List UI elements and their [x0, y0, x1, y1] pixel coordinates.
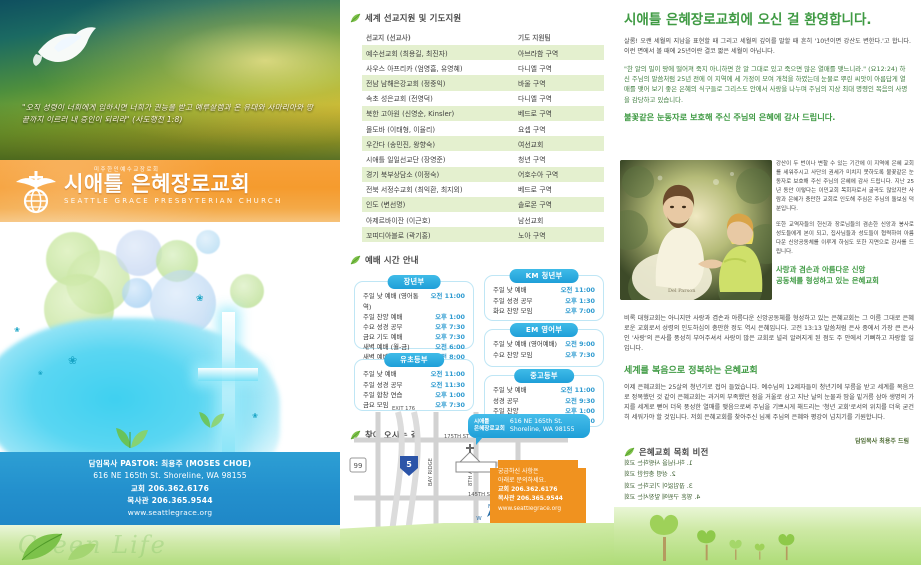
svg-text:EXIT 176: EXIT 176	[392, 406, 415, 412]
schedule-card: EM 영어부주일 낮 예배 (영어예배)오전 9:00수요 찬양 모임오후 7:…	[484, 329, 604, 367]
schedule-label: 금요 기도 예배	[363, 332, 402, 342]
vision-block: 은혜교회 목회 비전 1. 하나님을 사랑하는 교회2. 성령 충만한 교회3.…	[624, 446, 914, 504]
decor-bubble	[116, 230, 162, 276]
schedule-time: 오후 7:30	[435, 322, 465, 332]
website-link[interactable]: www.seattlegrace.org	[0, 507, 340, 519]
butterfly-icon: ❀	[68, 354, 77, 367]
col-prayer-team: 기도 지원팀	[514, 29, 604, 45]
prayer-team-cell: 다니엘 구역	[514, 60, 604, 75]
mission-field-cell: 경기 북부상담소 (이정숙)	[362, 167, 514, 182]
schedule-time: 오전 11:00	[431, 369, 465, 379]
vision-header: 은혜교회 목회 비전	[624, 446, 914, 458]
bible-verse: "오직 성령이 너희에게 임하시면 너희가 권능을 받고 예루살렘과 온 유대와…	[22, 102, 322, 126]
thanks-line: 불꽃같은 눈동자로 보호해 주신 주님의 은혜에 감사 드립니다.	[624, 111, 911, 123]
info-parsonage-phone: 목사관 206.365.9544	[498, 494, 580, 503]
side-paragraph-1: 강산이 두 번이나 변할 수 있는 기간에 이 지역에 은혜 교회를 세워주시고…	[776, 160, 914, 213]
svg-text:99: 99	[354, 462, 363, 470]
missions-title: 세계 선교지원 및 기도지원	[365, 12, 461, 24]
table-row: 북한 고아원 (신영순, Kinsler)베드로 구역	[362, 106, 604, 121]
svg-text:W: W	[476, 516, 482, 522]
logo-supertext: 미주한인예수교장로회	[94, 165, 283, 173]
brochure-page: "오직 성령이 너희에게 임하시면 너희가 권능을 받고 예루살렘과 온 유대와…	[0, 0, 921, 565]
info-line-1: 궁금하신 사항은	[498, 467, 580, 476]
body-paragraph-block: 비록 대형교회는 아니지만 사랑과 겸손과 아름다운 신앙공동체를 형성하고 있…	[624, 314, 914, 423]
schedule-row: 수요 성경 공부오후 7:30	[363, 322, 465, 332]
mission-field-cell: 속초 성은교회 (전영덕)	[362, 91, 514, 106]
decor-bubble	[230, 274, 264, 308]
schedule-row: 주일 낮 예배 (영어통역)오전 11:00	[363, 291, 465, 311]
schedule-row: 화요 찬양 모임오후 7:00	[493, 306, 595, 316]
parsonage-phone: 목사관 206.365.9544	[0, 495, 340, 507]
schedule-title: 예배 시간 안내	[365, 254, 419, 266]
schedule-time: 오전 6:00	[435, 342, 465, 352]
right-side-column: 강산이 두 번이나 변할 수 있는 기간에 이 지역에 은혜 교회를 세워주시고…	[776, 160, 914, 295]
butterfly-icon: ❀	[38, 370, 43, 377]
vision-items: 1. 하나님을 사랑하는 교회2. 성령 충만한 교회3. 끊임없이 기도하는 …	[624, 458, 914, 504]
church-emblem-icon	[12, 168, 60, 214]
table-row: 아제르바이잔 (이근호)남선교회	[362, 212, 604, 227]
table-row: 속초 성은교회 (전영덕)다니엘 구역	[362, 91, 604, 106]
svg-text:Del Parson: Del Parson	[668, 288, 696, 294]
mission-field-cell: 북한 고아원 (신영순, Kinsler)	[362, 106, 514, 121]
closing-paragraph: 이제 은혜교회는 25살의 청년기로 접어 들었습니다. 예수님의 12제자들이…	[624, 383, 914, 423]
table-row: 경기 북부상담소 (이정숙)어호수아 구역	[362, 167, 604, 182]
jesus-and-child-image: Del Parson	[620, 160, 772, 300]
prayer-team-cell: 베드로 구역	[514, 106, 604, 121]
prayer-team-cell: 다니엘 구역	[514, 91, 604, 106]
schedule-label: 주일 성경 공부	[493, 296, 532, 306]
schedule-time: 오전 11:00	[431, 291, 465, 311]
middle-panel: 세계 선교지원 및 기도지원 선교지 (선교사) 기도 지원팀 예수선교회 (최…	[340, 0, 614, 565]
jesus-illustration: Del Parson	[620, 160, 772, 300]
logo-text-group: 미주한인예수교장로회 시애틀 은혜장로교회 SEATTLE GRACE PRES…	[64, 165, 283, 205]
church-logo-band: 미주한인예수교장로회 시애틀 은혜장로교회 SEATTLE GRACE PRES…	[0, 160, 340, 222]
scripture-paragraph: "한 알의 밀이 땅에 떨어져 죽지 아니하면 한 알 그대로 있고 죽으면 많…	[624, 64, 911, 105]
table-row: 우간다 (송민진, 왕향숙)여선교회	[362, 136, 604, 151]
prayer-team-cell: 남선교회	[514, 212, 604, 227]
right-grass-footer	[614, 507, 921, 565]
schedule-card-title: EM 영어부	[510, 323, 578, 337]
butterfly-icon: ❀	[252, 412, 258, 420]
prayer-team-cell: 어호수아 구역	[514, 167, 604, 182]
schedule-label: 수요 찬양 모임	[493, 350, 532, 360]
left-panel: "오직 성령이 너희에게 임하시면 너희가 권능을 받고 예루살렘과 온 유대와…	[0, 0, 340, 565]
mission-field-cell: 전북 서정수교회 (최익환, 최지외)	[362, 182, 514, 197]
leaf-bullet-icon	[350, 255, 361, 266]
heart-tree-icon	[692, 527, 722, 561]
table-row: 시애틀 일일선교단 (장영준)청년 구역	[362, 151, 604, 166]
mission-field-cell: 예수선교회 (최용길, 최진자)	[362, 45, 514, 60]
heart-tree-icon	[752, 541, 768, 561]
decor-bubble	[196, 230, 220, 254]
schedule-row: 주일 낮 예배 (영어예배)오전 9:00	[493, 339, 595, 349]
col-mission-field: 선교지 (선교사)	[362, 29, 514, 45]
side-highlight: 사랑과 겸손과 아름다운 신앙 공동체를 형성하고 있는 은혜교회	[776, 265, 914, 286]
decorative-artwork: ❀ ❀ ❀ ❀ ❀	[0, 222, 340, 490]
schedule-row: 주일 성경 공부오후 1:30	[493, 296, 595, 306]
schedule-card-title: 유초등부	[384, 353, 444, 367]
callout-church-name: 시애틀 은혜장로교회	[474, 419, 505, 434]
church-phone: 교회 206.362.6176	[0, 483, 340, 495]
prayer-team-cell: 노아 구역	[514, 227, 604, 242]
logo-korean-name: 시애틀 은혜장로교회	[64, 173, 283, 195]
schedule-label: 주일 낮 예배 (영어통역)	[363, 291, 425, 311]
schedule-card-title: 장년부	[388, 275, 441, 289]
prayer-team-cell: 여선교회	[514, 136, 604, 151]
schedule-time: 오후 7:30	[565, 350, 595, 360]
schedule-time: 오전 9:00	[565, 339, 595, 349]
mission-field-cell: 인도 (변선명)	[362, 197, 514, 212]
info-website[interactable]: www.seattlegrace.org	[498, 506, 580, 512]
pastor-line: 담임목사 PASTOR: 최용주 (MOSES CHOE)	[0, 458, 340, 470]
contact-block: 담임목사 PASTOR: 최용주 (MOSES CHOE) 616 NE 165…	[0, 452, 340, 530]
side-paragraph-2: 또한 교역자들의 헌신과 장로님들의 겸손한 신앙과 봉사로 성도들에게 본이 …	[776, 221, 914, 257]
mission-field-cell: 꼬띠디아블로 (곽기홍)	[362, 227, 514, 242]
schedule-card: 장년부주일 낮 예배 (영어통역)오전 11:00주일 찬양 예배오후 1:00…	[354, 281, 474, 349]
schedule-section-header: 예배 시간 안내	[350, 254, 614, 266]
body-paragraph: 비록 대형교회는 아니지만 사랑과 겸손과 아름다운 신앙공동체를 형성하고 있…	[624, 314, 914, 354]
leaf-sprig-icon	[196, 404, 226, 428]
schedule-time: 오후 1:00	[435, 312, 465, 322]
mission-field-cell: 우간다 (송민진, 왕향숙)	[362, 136, 514, 151]
schedule-row: 새벽 예배 (월-금)오전 6:00	[363, 342, 465, 352]
table-row: 꼬띠디아블로 (곽기홍)노아 구역	[362, 227, 604, 242]
schedule-time: 오전 11:00	[561, 285, 595, 295]
dove-icon	[30, 22, 102, 70]
schedule-label: 새벽 예배 (월-금)	[363, 342, 410, 352]
intro-paragraph: 살롬! 오랜 세월의 지남을 표현할 때 그리고 세월의 깊이를 말할 때 흔히…	[624, 37, 911, 57]
missions-table: 선교지 (선교사) 기도 지원팀 예수선교회 (최용길, 최진자)아브라함 구역…	[362, 29, 604, 242]
prayer-team-cell: 아브라함 구역	[514, 45, 604, 60]
svg-text:5: 5	[406, 460, 412, 469]
butterfly-icon: ❀	[196, 294, 204, 304]
table-row: 몰도바 (이태형, 이율리)요셉 구역	[362, 121, 604, 136]
mission-field-cell: 몰도바 (이태형, 이율리)	[362, 121, 514, 136]
schedule-card: KM 청년부주일 낮 예배오전 11:00주일 성경 공부오후 1:30화요 찬…	[484, 275, 604, 321]
heart-tree-icon	[774, 531, 800, 561]
location-map[interactable]: 99 5 EXIT 176 175TH ST 148TH ST 145TH ST…	[340, 388, 614, 565]
table-header-row: 선교지 (선교사) 기도 지원팀	[362, 29, 604, 45]
address-line: 616 NE 165th St. Shoreline, WA 98155	[0, 470, 340, 482]
schedule-label: 주일 낮 예배 (영어예배)	[493, 339, 557, 349]
schedule-time: 오후 7:00	[565, 306, 595, 316]
mission-field-cell: 시애틀 일일선교단 (장영준)	[362, 151, 514, 166]
prayer-team-cell: 요셉 구역	[514, 121, 604, 136]
schedule-card-title: 중고등부	[514, 369, 574, 383]
table-row: 전북 서정수교회 (최익환, 최지외)베드로 구역	[362, 182, 604, 197]
butterfly-icon: ❀	[14, 326, 20, 334]
heart-tree-icon	[726, 537, 746, 561]
schedule-row: 금요 기도 예배오후 7:30	[363, 332, 465, 342]
callout-address: 616 NE 165th St. Shoreline, WA 98155	[510, 418, 575, 434]
schedule-time: 오후 1:30	[565, 296, 595, 306]
prayer-team-cell: 청년 구역	[514, 151, 604, 166]
signature-line: 담임목사 최용주 드림	[855, 436, 909, 445]
table-row: 예수선교회 (최용길, 최진자)아브라함 구역	[362, 45, 604, 60]
leaf-decoration-icon	[16, 528, 100, 562]
leaf-sprig-icon	[112, 418, 150, 448]
prayer-team-cell: 솔로몬 구역	[514, 197, 604, 212]
mission-field-cell: 사우스 아프리카 (엄영흠, 유영혜)	[362, 60, 514, 75]
svg-text:BAY RIDGE: BAY RIDGE	[428, 458, 434, 486]
church-address-callout: 시애틀 은혜장로교회 616 NE 165th St. Shoreline, W…	[468, 414, 590, 438]
cross-icon	[198, 312, 258, 472]
vision-title: 은혜교회 목회 비전	[639, 446, 708, 458]
table-row: 전남 남해은강교회 (정중익)바울 구역	[362, 75, 604, 90]
schedule-row: 주일 낮 예배오전 11:00	[493, 285, 595, 295]
right-panel: 시애틀 은혜장로교회에 오신 걸 환영합니다. 살롬! 오랜 세월의 지남을 표…	[614, 0, 921, 565]
svg-text:175TH ST: 175TH ST	[444, 434, 470, 440]
logo-english-name: SEATTLE GRACE PRESBYTERIAN CHURCH	[64, 197, 283, 205]
heart-tree-icon	[642, 511, 688, 561]
decor-bubble	[122, 278, 152, 308]
missions-section-header: 세계 선교지원 및 기도지원	[350, 12, 614, 24]
table-row: 사우스 아프리카 (엄영흠, 유영혜)다니엘 구역	[362, 60, 604, 75]
schedule-row: 주일 낮 예배오전 11:00	[363, 369, 465, 379]
schedule-time: 오후 7:30	[435, 332, 465, 342]
mission-field-cell: 전남 남해은강교회 (정중익)	[362, 75, 514, 90]
left-grass-footer: Green Life	[0, 525, 340, 565]
info-church-phone: 교회 206.362.6176	[498, 485, 580, 494]
vision-item: 3. 끊임없이 기도하는 교회	[624, 481, 914, 492]
middle-grass-footer	[340, 523, 614, 565]
vision-item: 2. 성령 충만한 교회	[624, 469, 914, 480]
leaf-bullet-icon	[350, 13, 361, 24]
table-row: 인도 (변선명)솔로몬 구역	[362, 197, 604, 212]
schedule-label: 주일 찬양 예배	[363, 312, 402, 322]
prayer-team-cell: 바울 구역	[514, 75, 604, 90]
schedule-label: 주일 낮 예배	[493, 285, 526, 295]
schedule-label: 수요 성경 공부	[363, 322, 402, 332]
mission-field-cell: 아제르바이잔 (이근호)	[362, 212, 514, 227]
subheadline: 세계를 복음으로 정복하는 은혜교회	[624, 363, 914, 376]
schedule-label: 화요 찬양 모임	[493, 306, 532, 316]
schedule-row: 수요 찬양 모임오후 7:30	[493, 350, 595, 360]
info-line-2: 아래로 문의하세요.	[498, 476, 580, 485]
leaf-bullet-icon	[624, 447, 635, 458]
vision-item: 4. 영혼 구원에 앞장서는 교회	[624, 492, 914, 503]
schedule-label: 주일 낮 예배	[363, 369, 396, 379]
welcome-headline: 시애틀 은혜장로교회에 오신 걸 환영합니다.	[624, 12, 911, 29]
vision-item: 1. 하나님을 사랑하는 교회	[624, 458, 914, 469]
schedule-card-title: KM 청년부	[510, 269, 579, 283]
prayer-team-cell: 베드로 구역	[514, 182, 604, 197]
schedule-row: 주일 찬양 예배오후 1:00	[363, 312, 465, 322]
contact-info-box: 궁금하신 사항은 아래로 문의하세요. 교회 206.362.6176 목사관 …	[490, 460, 586, 532]
